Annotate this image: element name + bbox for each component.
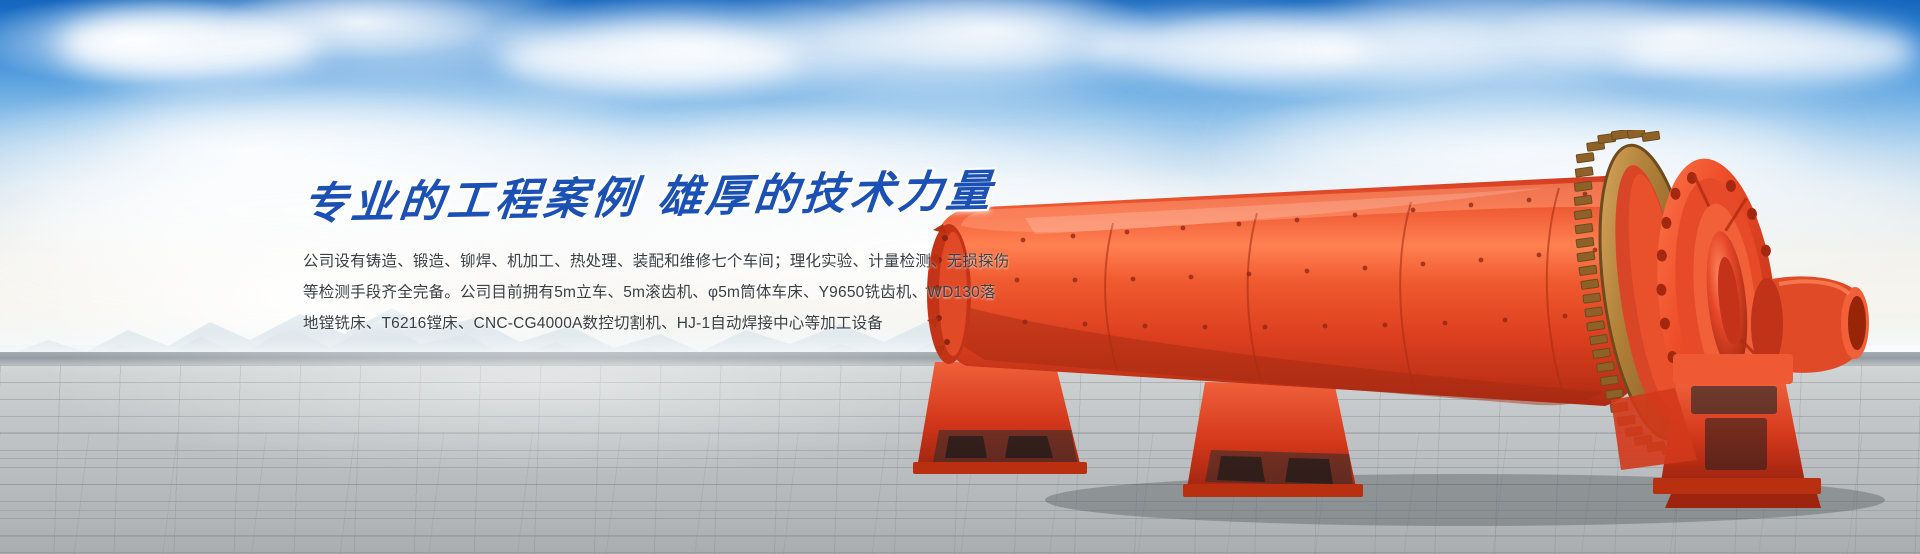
support-foot-left <box>913 362 1087 474</box>
support-foot-right <box>1183 382 1363 497</box>
banner-copy: 专业的工程案例雄厚的技术力量 公司设有铸造、锻造、铆焊、机加工、热处理、装配和维… <box>303 182 1063 343</box>
description-line-3: 地镗铣床、T6216镗床、CNC-CG4000A数控切割机、HJ-1自动焊接中心… <box>303 312 1063 336</box>
hero-banner: 专业的工程案例雄厚的技术力量 公司设有铸造、锻造、铆焊、机加工、热处理、装配和维… <box>0 0 1920 554</box>
cloud-shape <box>500 26 800 90</box>
description-line-2: 等检测手段齐全完备。公司目前拥有5m立车、5m滚齿机、φ5m筒体车床、Y9650… <box>303 281 1063 305</box>
description-line-1: 公司设有铸造、锻造、铆焊、机加工、热处理、装配和维修七个车间；理化实验、计量检测… <box>303 250 1063 274</box>
headline-part-2: 雄厚的技术力量 <box>655 166 997 223</box>
cloud-shape <box>1080 16 1370 78</box>
banner-headline: 专业的工程案例雄厚的技术力量 <box>301 167 1067 228</box>
cloud-shape <box>1330 0 1670 80</box>
banner-description: 公司设有铸造、锻造、铆焊、机加工、热处理、装配和维修七个车间；理化实验、计量检测… <box>303 250 1063 336</box>
cloud-shape <box>1620 18 1920 84</box>
cloud-shape <box>760 6 1120 82</box>
headline-part-1: 专业的工程案例 <box>300 173 642 230</box>
